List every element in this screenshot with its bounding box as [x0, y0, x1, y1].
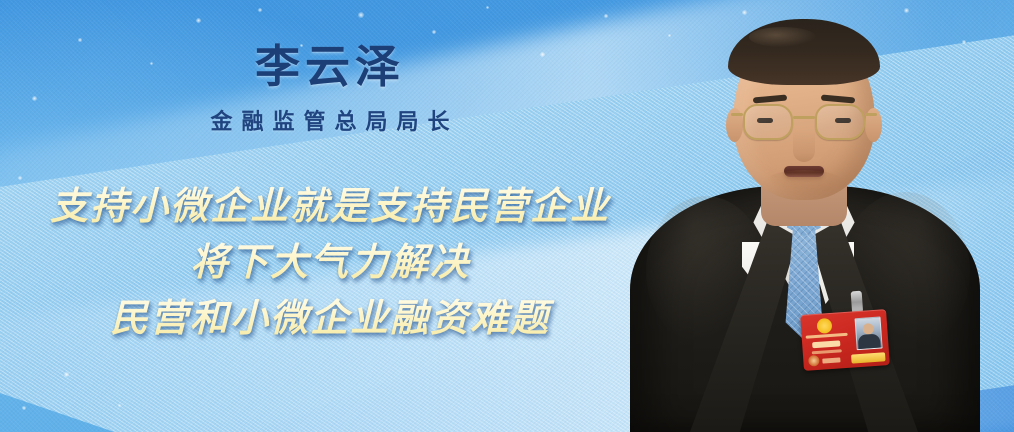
head [733, 22, 875, 200]
eyebrow-right [821, 95, 855, 104]
eyeglass-temple-right [865, 113, 877, 116]
badge-subtitle-line [812, 349, 842, 354]
broadcast-frame: 李云泽 金融监管总局局长 支持小微企业就是支持民营企业 将下大气力解决 民营和小… [0, 0, 1014, 432]
badge-card [800, 309, 890, 371]
badge-name-line [812, 340, 840, 348]
badge-code-line [822, 357, 840, 363]
eyebrow-left [753, 95, 787, 104]
hair [728, 19, 880, 85]
badge-organization-line [806, 333, 848, 339]
badge-gold-strip [851, 352, 886, 363]
eyeglass-lens-left [743, 104, 793, 140]
id-badge [800, 309, 890, 371]
eyeglass-lens-right [815, 104, 865, 140]
chin-shadow [764, 170, 844, 196]
badge-photo [855, 316, 883, 350]
eyeglass-temple-left [731, 113, 743, 116]
speaker-figure [594, 0, 1014, 432]
eyeglass-bridge [793, 116, 815, 119]
badge-seal-icon [808, 355, 820, 367]
nose [793, 130, 815, 162]
national-emblem-icon [816, 318, 832, 334]
